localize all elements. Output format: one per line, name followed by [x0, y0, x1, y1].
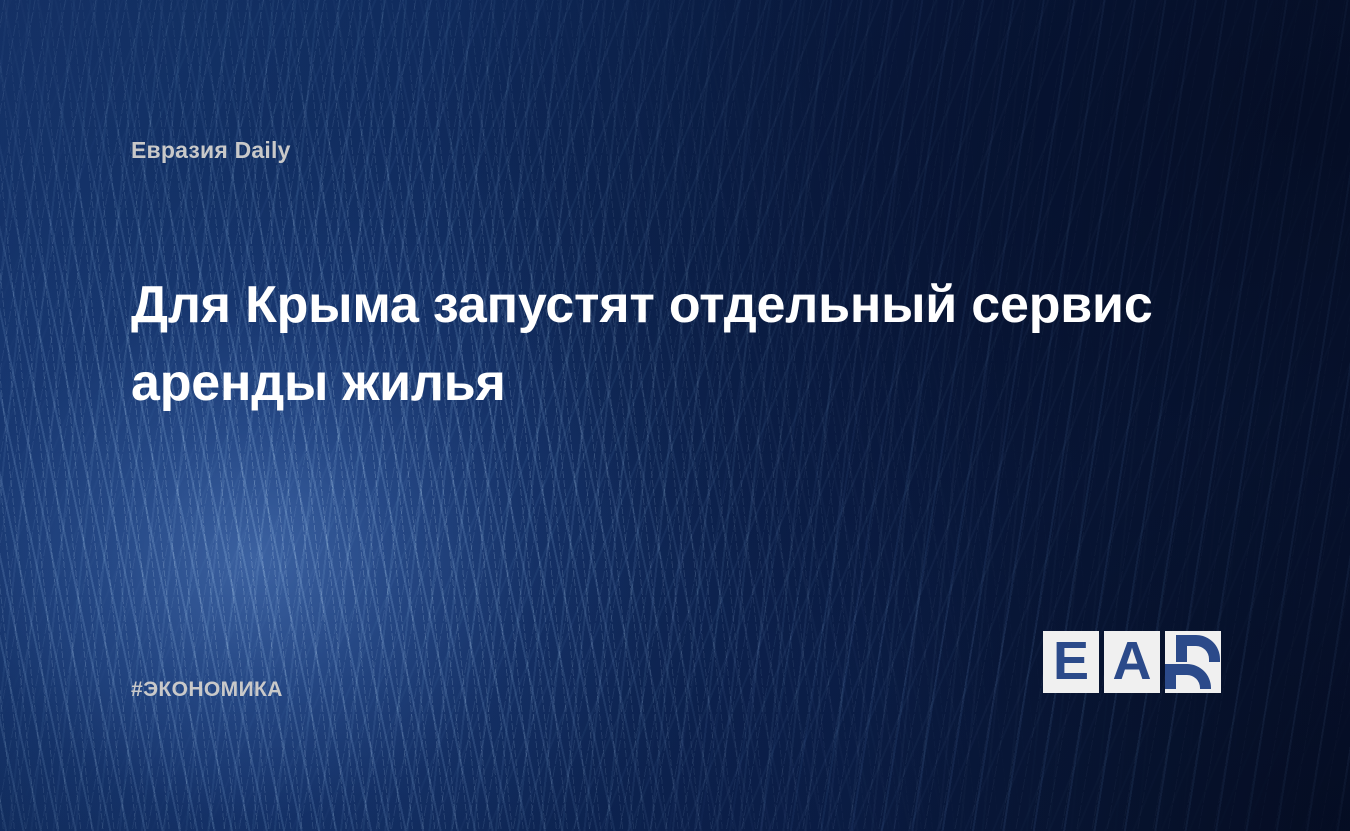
category-hashtag: #ЭКОНОМИКА [131, 678, 283, 702]
source-brand-label: Евразия Daily [131, 137, 291, 164]
page-title: Для Крыма запустят отдельный сервис арен… [131, 266, 1221, 422]
logo-letter-a: A [1113, 631, 1152, 691]
card-content: Евразия Daily Для Крыма запустят отдельн… [0, 0, 1350, 831]
logo-letter-e: E [1053, 631, 1089, 691]
eadaily-logo[interactable]: E A [1043, 631, 1221, 693]
article-share-card: Евразия Daily Для Крыма запустят отдельн… [0, 0, 1350, 831]
eadaily-logo-mark: E A [1043, 631, 1221, 693]
